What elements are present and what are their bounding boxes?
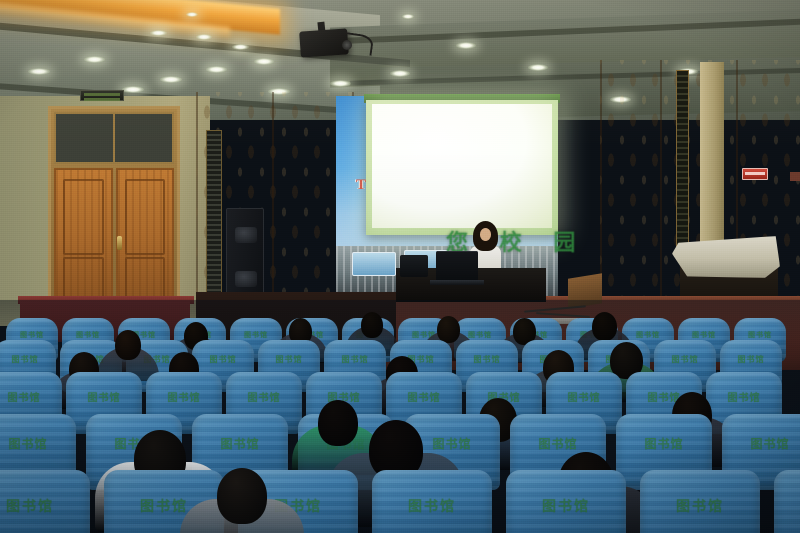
wall-vent-slat xyxy=(676,70,689,260)
door-leaf-right[interactable] xyxy=(116,168,175,312)
ceiling-downlight xyxy=(160,76,182,83)
wall-marker xyxy=(790,172,800,181)
ceiling-downlight xyxy=(84,56,105,63)
presenter-face xyxy=(480,228,491,241)
door-handle[interactable] xyxy=(117,236,122,250)
backdrop-letter: T xyxy=(356,178,365,193)
ceiling-downlight xyxy=(456,42,476,49)
ceiling-downlight xyxy=(186,12,198,17)
ceiling-downlight xyxy=(402,14,414,19)
ceiling-downlight xyxy=(196,34,212,40)
speaker-driver-icon xyxy=(235,227,257,243)
ceiling-downlight xyxy=(28,68,50,75)
ceiling-downlight xyxy=(122,86,144,93)
ceiling-downlight xyxy=(528,64,548,71)
ceiling-downlight xyxy=(150,30,167,36)
auditorium-photo: T 您 校 园 图书馆图书馆图书馆图书馆图书馆图书馆图书馆图书馆图书馆图书馆图书… xyxy=(0,0,800,533)
audience-seating: 图书馆图书馆图书馆图书馆图书馆图书馆图书馆图书馆图书馆图书馆图书馆图书馆图书馆图… xyxy=(0,300,800,533)
projection-screen xyxy=(372,104,552,228)
audience-member-head xyxy=(217,468,267,524)
door-leaf-left[interactable] xyxy=(54,168,113,312)
door-transom-window xyxy=(54,112,174,164)
ceiling-downlight xyxy=(206,66,227,73)
ceiling-downlight xyxy=(330,80,351,87)
desk-monitor xyxy=(400,255,428,277)
piano-dust-cover xyxy=(672,236,780,278)
double-wooden-doors[interactable] xyxy=(54,168,174,312)
ceiling-downlight xyxy=(232,44,249,50)
audience-member xyxy=(0,300,800,533)
wall-control-box xyxy=(80,90,124,101)
laptop-base xyxy=(430,280,484,285)
exit-sign xyxy=(742,168,768,180)
ceiling-downlight xyxy=(390,70,410,77)
laptop xyxy=(436,251,478,281)
speaker-driver-icon xyxy=(235,271,257,287)
ceiling-downlight xyxy=(254,58,274,65)
wall-speaker-grille xyxy=(206,130,222,300)
backdrop-card xyxy=(352,252,396,276)
